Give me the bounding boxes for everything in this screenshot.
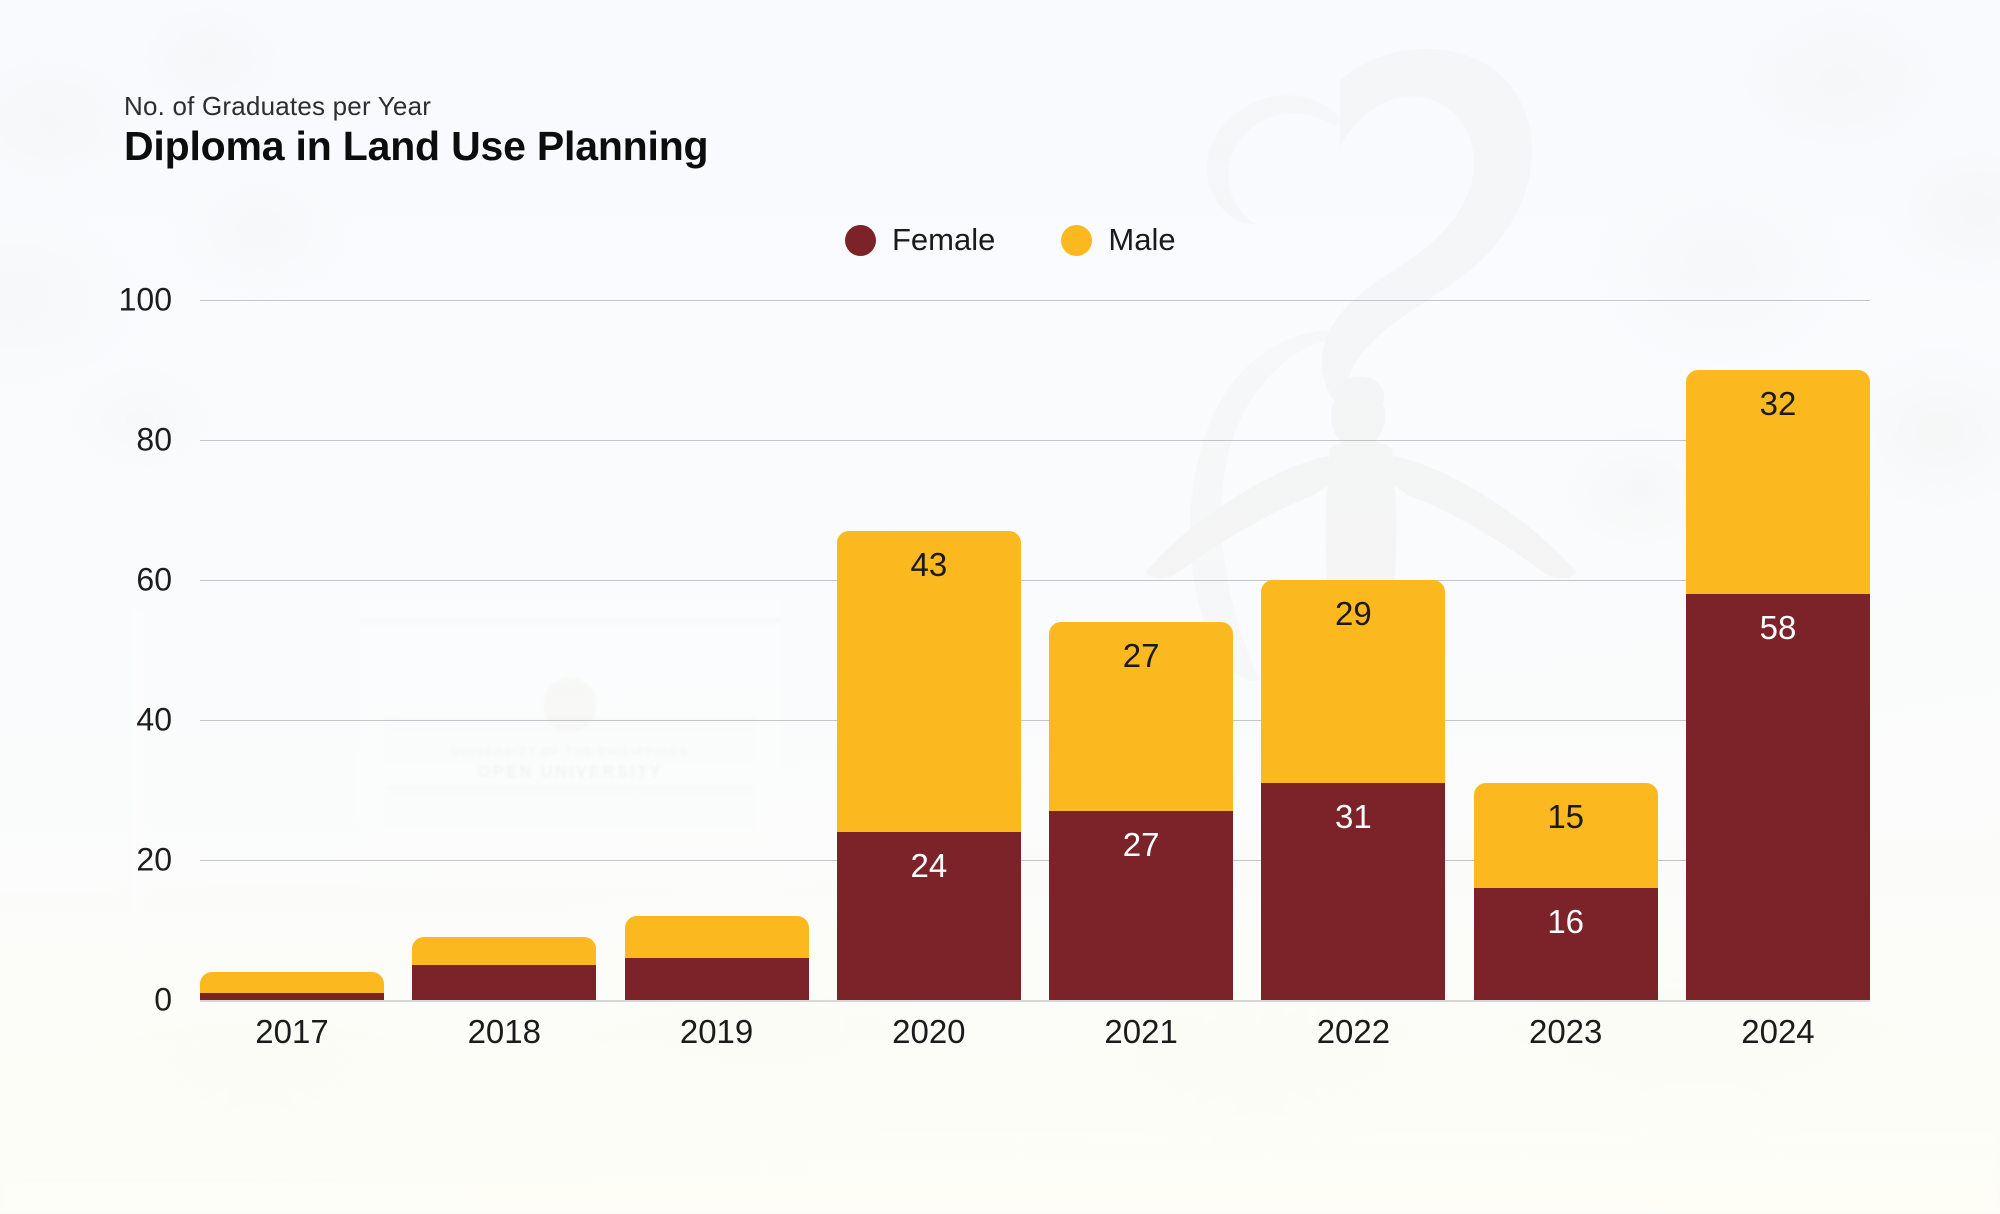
bar-segment-female-2018[interactable] <box>412 965 596 1000</box>
x-axis-label-2022: 2022 <box>1261 1013 1445 1051</box>
bar-column-2018[interactable] <box>412 300 596 1000</box>
bar-value-label-male-2024: 32 <box>1760 370 1797 420</box>
bar-column-2019[interactable] <box>625 300 809 1000</box>
bar-value-label-male-2022: 29 <box>1335 580 1372 630</box>
y-axis-tick-60: 60 <box>136 562 172 599</box>
bar-column-2023[interactable]: 1516 <box>1474 300 1658 1000</box>
bar-segment-male-2021[interactable]: 27 <box>1049 622 1233 811</box>
bar-segment-male-2024[interactable]: 32 <box>1686 370 1870 594</box>
chart-subtitle: No. of Graduates per Year <box>124 92 708 121</box>
bar-value-label-female-2023: 16 <box>1547 888 1584 938</box>
chart-canvas: UNIVERSITY OF THE PHILIPPINES OPEN UNIVE… <box>0 0 2000 1214</box>
y-axis-tick-100: 100 <box>119 282 172 319</box>
x-axis-label-2021: 2021 <box>1049 1013 1233 1051</box>
x-axis-label-2024: 2024 <box>1686 1013 1870 1051</box>
bar-value-label-male-2020: 43 <box>910 531 947 581</box>
bar-segment-female-2023[interactable]: 16 <box>1474 888 1658 1000</box>
bar-segment-female-2024[interactable]: 58 <box>1686 594 1870 1000</box>
x-axis-label-2023: 2023 <box>1474 1013 1658 1051</box>
x-axis-label-2017: 2017 <box>200 1013 384 1051</box>
x-axis-label-2018: 2018 <box>412 1013 596 1051</box>
bar-value-label-female-2020: 24 <box>910 832 947 882</box>
chart-legend: Female Male <box>845 222 1176 258</box>
bar-segment-male-2018[interactable] <box>412 937 596 965</box>
bar-segment-male-2017[interactable] <box>200 972 384 993</box>
bar-segment-male-2022[interactable]: 29 <box>1261 580 1445 783</box>
bar-segment-male-2020[interactable]: 43 <box>837 531 1021 832</box>
y-axis-tick-40: 40 <box>136 702 172 739</box>
bar-value-label-female-2021: 27 <box>1123 811 1160 861</box>
legend-label-female: Female <box>892 222 995 258</box>
bar-segment-male-2023[interactable]: 15 <box>1474 783 1658 888</box>
x-axis-label-2020: 2020 <box>837 1013 1021 1051</box>
bar-column-2024[interactable]: 3258 <box>1686 300 1870 1000</box>
y-axis-tick-80: 80 <box>136 422 172 459</box>
chart-header: No. of Graduates per Year Diploma in Lan… <box>124 92 708 170</box>
legend-label-male: Male <box>1108 222 1175 258</box>
y-axis-tick-0: 0 <box>154 982 172 1019</box>
bar-group: 43242727293115163258 <box>200 300 1870 1000</box>
x-axis-labels: 20172018201920202021202220232024 <box>200 1013 1870 1051</box>
circle-swatch-icon-female <box>845 225 876 256</box>
x-axis-label-2019: 2019 <box>625 1013 809 1051</box>
bar-segment-male-2019[interactable] <box>625 916 809 958</box>
bar-segment-female-2021[interactable]: 27 <box>1049 811 1233 1000</box>
bar-segment-female-2020[interactable]: 24 <box>837 832 1021 1000</box>
bar-column-2022[interactable]: 2931 <box>1261 300 1445 1000</box>
bar-segment-female-2017[interactable] <box>200 993 384 1000</box>
bar-value-label-male-2021: 27 <box>1123 622 1160 672</box>
chart-title: Diploma in Land Use Planning <box>124 124 708 170</box>
bar-column-2017[interactable] <box>200 300 384 1000</box>
plot-area: 020406080100 43242727293115163258 <box>200 300 1870 1000</box>
circle-swatch-icon-male <box>1061 225 1092 256</box>
bar-column-2021[interactable]: 2727 <box>1049 300 1233 1000</box>
bar-segment-female-2022[interactable]: 31 <box>1261 783 1445 1000</box>
bar-value-label-female-2024: 58 <box>1760 594 1797 644</box>
bar-value-label-female-2022: 31 <box>1335 783 1372 833</box>
x-axis-line <box>200 1000 1870 1002</box>
legend-item-male[interactable]: Male <box>1061 222 1175 258</box>
bar-segment-female-2019[interactable] <box>625 958 809 1000</box>
y-axis-tick-20: 20 <box>136 842 172 879</box>
legend-item-female[interactable]: Female <box>845 222 995 258</box>
bar-column-2020[interactable]: 4324 <box>837 300 1021 1000</box>
bar-value-label-male-2023: 15 <box>1547 783 1584 833</box>
